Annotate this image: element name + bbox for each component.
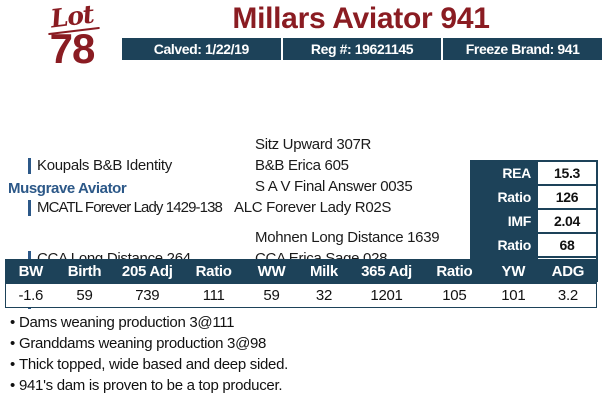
- header-205-adj: 205 Adj: [113, 260, 181, 283]
- performance-table-header-row: BW Birth 205 Adj Ratio WW Milk 365 Adj R…: [6, 260, 596, 283]
- note-text: Thick topped, wide based and deep sided.: [19, 356, 288, 373]
- value-yw: 101: [487, 284, 540, 307]
- lot-logo: Lot 78: [22, 0, 122, 70]
- ultrasound-row-imf: IMF 2.04: [472, 210, 596, 232]
- header-ratio-ww: Ratio: [181, 260, 246, 283]
- info-freeze-brand: Freeze Brand: 941: [443, 38, 602, 60]
- page-title: Millars Aviator 941: [122, 2, 600, 36]
- value-birth: 59: [56, 284, 114, 307]
- ultrasound-row-rea-ratio: Ratio 126: [472, 186, 596, 208]
- header-birth: Birth: [56, 260, 114, 283]
- note-text: 941's dam is proven to be a top producer…: [19, 377, 282, 394]
- info-calved-date: Calved: 1/22/19: [122, 38, 283, 60]
- ultrasound-value-rea: 15.3: [538, 162, 596, 184]
- header-ww: WW: [246, 260, 297, 283]
- pedigree-tick-sire-top: [28, 158, 31, 174]
- pedigree-sire-gp-2: S A V Final Answer 0035: [255, 178, 412, 195]
- value-365-adj: 1201: [351, 284, 422, 307]
- value-adg: 3.2: [540, 284, 596, 307]
- header-bw: BW: [6, 260, 56, 283]
- note-item: •Granddams weaning production 3@98: [10, 333, 570, 354]
- header-ratio-yw: Ratio: [422, 260, 487, 283]
- value-205-adj: 739: [113, 284, 181, 307]
- ultrasound-row-imf-ratio: Ratio 68: [472, 234, 596, 256]
- value-ww: 59: [246, 284, 297, 307]
- note-item: •Thick topped, wide based and deep sided…: [10, 354, 570, 375]
- header-adg: ADG: [540, 260, 596, 283]
- pedigree-dam-gp-0: Mohnen Long Distance 1639: [255, 229, 439, 246]
- note-text: Granddams weaning production 3@98: [19, 335, 266, 352]
- value-bw: -1.6: [6, 284, 56, 307]
- ultrasound-row-rea: REA 15.3: [472, 162, 596, 184]
- performance-table-data-row: -1.6 59 739 111 59 32 1201 105 101 3.2: [6, 283, 596, 307]
- value-milk: 32: [297, 284, 351, 307]
- ultrasound-value-imf: 2.04: [538, 210, 596, 232]
- ultrasound-value-imf-ratio: 68: [538, 234, 596, 256]
- header-milk: Milk: [297, 260, 351, 283]
- bullet-icon: •: [10, 314, 15, 331]
- pedigree-sire: Musgrave Aviator: [8, 180, 126, 197]
- pedigree-sire-gp-1: B&B Erica 605: [255, 157, 349, 174]
- value-ratio-ww: 111: [181, 284, 246, 307]
- header-365-adj: 365 Adj: [351, 260, 422, 283]
- animal-info-bar: Calved: 1/22/19 Reg #: 19621145 Freeze B…: [122, 38, 602, 60]
- pedigree-tick-sire-bottom: [28, 200, 31, 216]
- lot-header: Lot 78 Millars Aviator 941 Calved: 1/22/…: [0, 0, 602, 62]
- note-item: •Dams weaning production 3@111: [10, 312, 570, 333]
- note-text: Dams weaning production 3@111: [19, 314, 234, 331]
- ultrasound-label-imf-ratio: Ratio: [472, 234, 538, 256]
- ultrasound-label-rea-ratio: Ratio: [472, 186, 538, 208]
- performance-table: BW Birth 205 Adj Ratio WW Milk 365 Adj R…: [5, 259, 597, 308]
- pedigree-sire-gp-0: Sitz Upward 307R: [255, 136, 371, 153]
- value-ratio-yw: 105: [422, 284, 487, 307]
- pedigree-chart: Koupals B&B Identity Musgrave Aviator MC…: [0, 62, 602, 252]
- ultrasound-label-imf: IMF: [472, 210, 538, 232]
- bullet-icon: •: [10, 377, 15, 394]
- pedigree-sire-gp-3: ALC Forever Lady R02S: [234, 199, 391, 216]
- pedigree-sire-of-sire: Koupals B&B Identity: [37, 157, 172, 174]
- pedigree-dam-of-sire: MCATL Forever Lady 1429-138: [37, 199, 222, 216]
- lot-notes-list: •Dams weaning production 3@111 •Granddam…: [10, 312, 570, 396]
- info-registration-number: Reg #: 19621145: [283, 38, 444, 60]
- note-item: •941's dam is proven to be a top produce…: [10, 375, 570, 396]
- bullet-icon: •: [10, 335, 15, 352]
- ultrasound-label-rea: REA: [472, 162, 538, 184]
- header-yw: YW: [487, 260, 540, 283]
- ultrasound-value-rea-ratio: 126: [538, 186, 596, 208]
- bullet-icon: •: [10, 356, 15, 373]
